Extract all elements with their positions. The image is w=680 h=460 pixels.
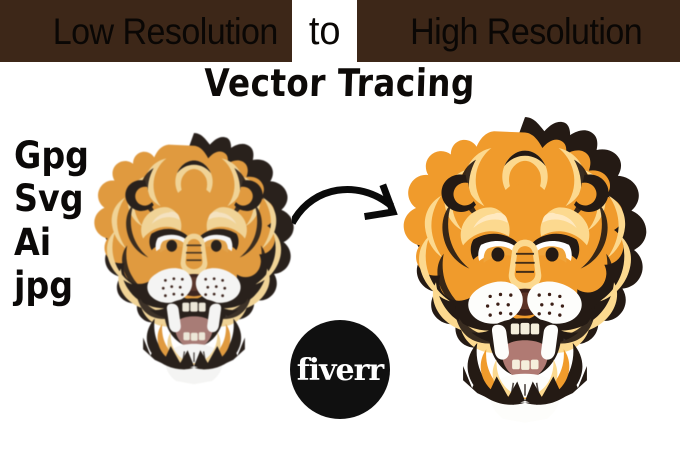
banner-connector-label: to	[309, 11, 341, 51]
page-title: Vector Tracing	[46, 64, 632, 104]
fiverr-logo-badge: fiverr ®	[290, 320, 390, 419]
banner-high-resolution-label: High Resolution	[410, 13, 642, 50]
banner-high-resolution: High Resolution	[357, 0, 680, 62]
lion-head-mascot-low-resolution	[88, 128, 300, 386]
banner-connector-box: to	[292, 0, 357, 62]
curved-arrow-right-icon	[292, 176, 408, 228]
file-format-item: Gpg	[14, 134, 91, 177]
gig-thumbnail-canvas: Low Resolution to High Resolution Vector…	[0, 0, 680, 460]
registered-trademark-icon: ®	[390, 311, 400, 322]
file-format-item: Ai	[14, 221, 91, 264]
fiverr-wordmark: fiverr	[297, 356, 383, 386]
banner-low-resolution-label: Low Resolution	[53, 13, 278, 50]
banner-low-resolution: Low Resolution	[0, 0, 292, 62]
file-format-item: Svg	[14, 177, 91, 220]
file-format-item: jpg	[14, 264, 91, 307]
lion-head-mascot-high-resolution	[396, 112, 654, 424]
